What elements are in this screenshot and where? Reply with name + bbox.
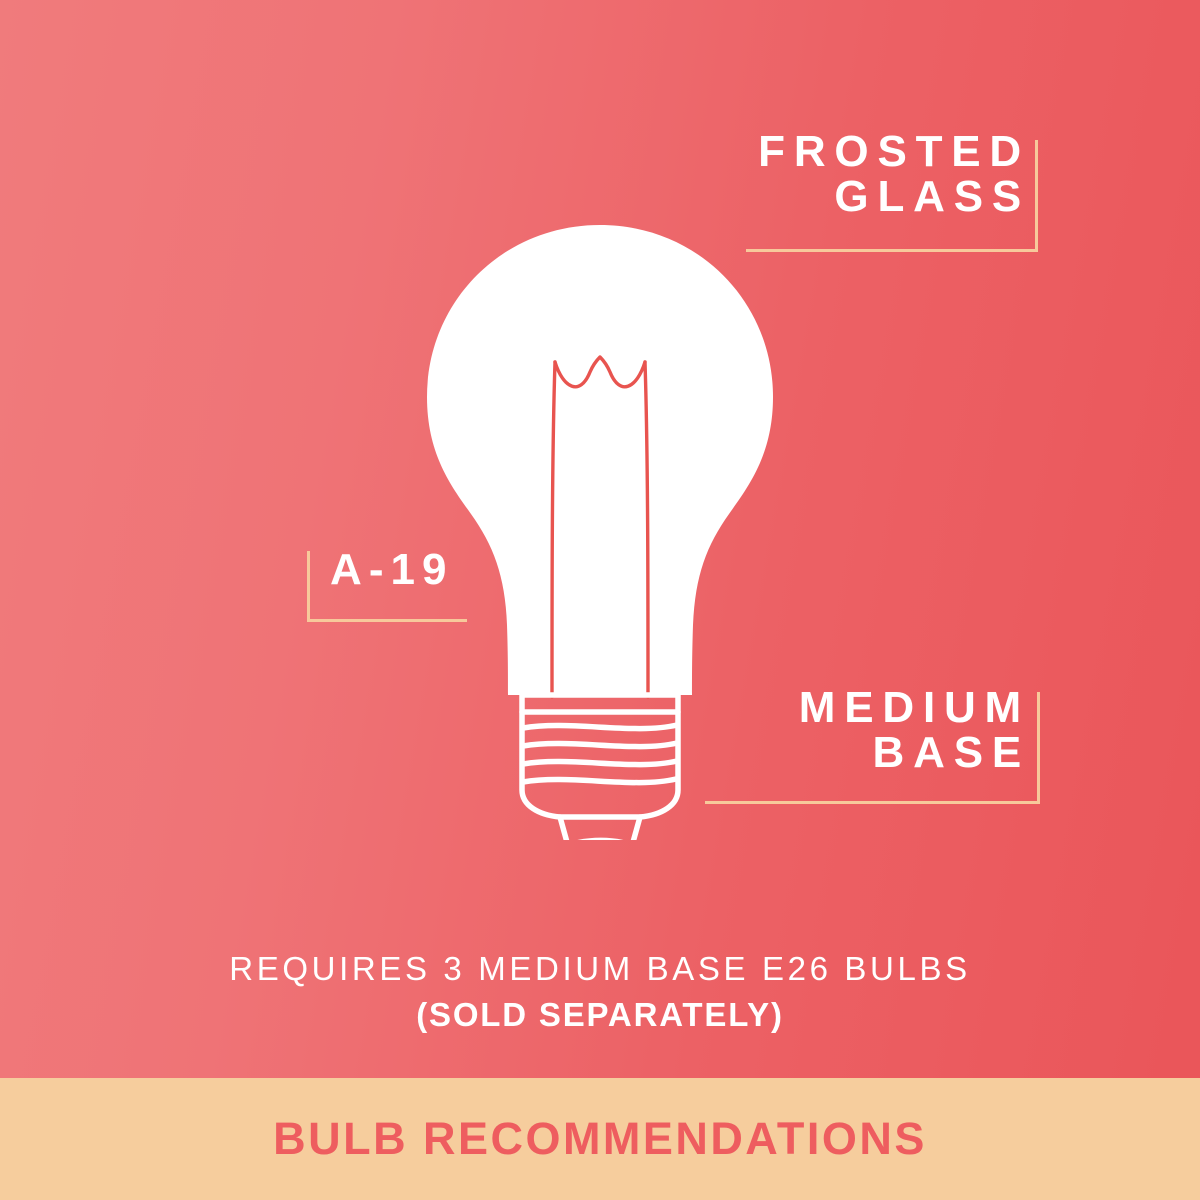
bracket-horizontal-rule	[746, 249, 1038, 252]
callout-medium-base: MEDIUM BASE	[640, 686, 1030, 776]
bracket-vertical-rule	[1035, 140, 1038, 249]
callout-medium-base-line-1: MEDIUM	[640, 686, 1030, 731]
callout-frosted-glass: FROSTED GLASS	[640, 130, 1030, 220]
footnote-line-1: REQUIRES 3 MEDIUM BASE E26 BULBS	[0, 948, 1200, 990]
banner-title: BULB RECOMMENDATIONS	[273, 1113, 927, 1165]
callout-a19-label: A-19	[330, 548, 500, 593]
bracket-horizontal-rule	[705, 801, 1040, 804]
callout-medium-base-line-2: BASE	[640, 731, 1030, 776]
callout-frosted-glass-line-2: GLASS	[640, 175, 1030, 220]
callout-a19: A-19	[330, 548, 500, 593]
bracket-vertical-rule	[1037, 692, 1040, 801]
bulb-glass-shape	[427, 225, 773, 695]
callout-frosted-glass-line-1: FROSTED	[640, 130, 1030, 175]
footnote: REQUIRES 3 MEDIUM BASE E26 BULBS (SOLD S…	[0, 948, 1200, 1036]
bottom-banner: BULB RECOMMENDATIONS	[0, 1078, 1200, 1200]
bracket-vertical-rule	[307, 551, 310, 619]
footnote-line-2: (SOLD SEPARATELY)	[0, 994, 1200, 1036]
bulb-recommendations-poster: FROSTED GLASS A-19 MEDIUM BASE REQUIRES …	[0, 0, 1200, 1200]
bracket-horizontal-rule	[307, 619, 467, 622]
